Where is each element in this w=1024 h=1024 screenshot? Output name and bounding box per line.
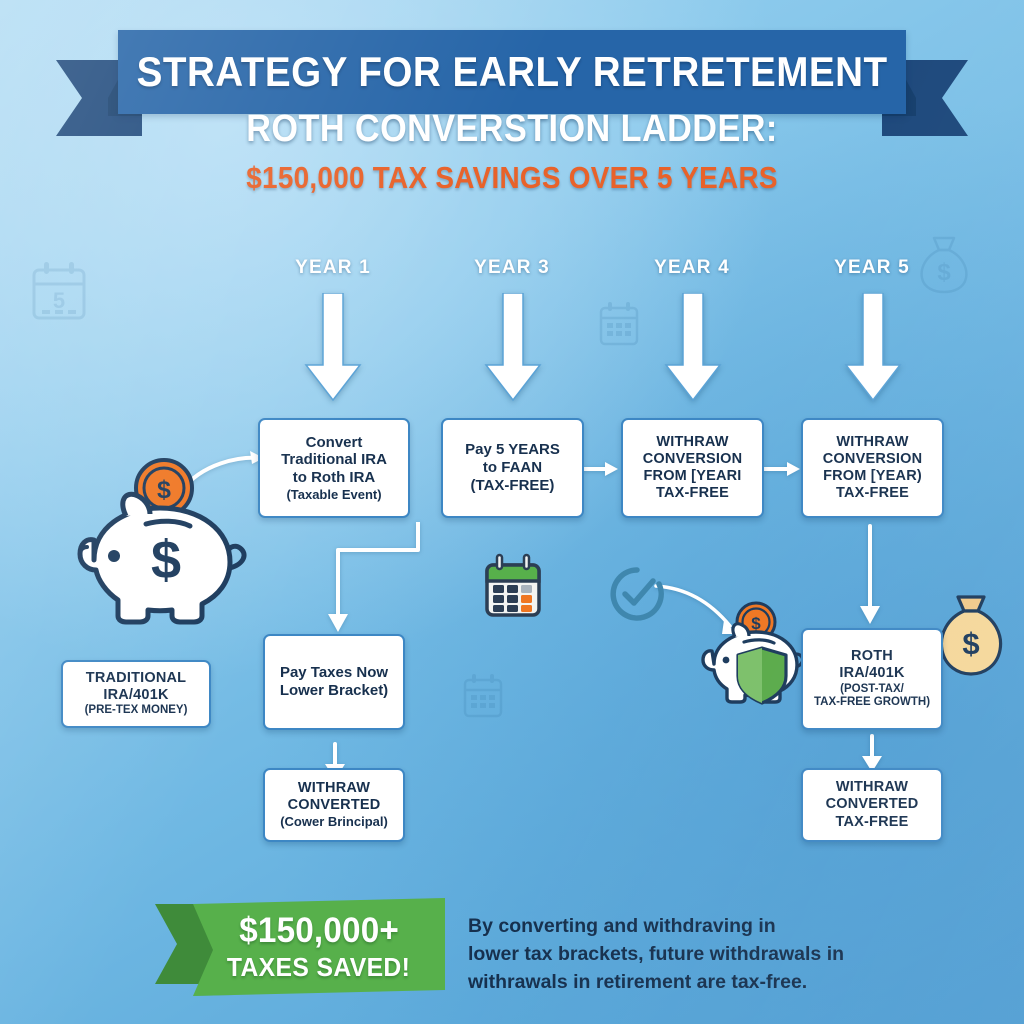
box-line: WITHRAW (836, 434, 908, 451)
piggy-bank-icon: $ $ (52, 450, 272, 635)
timeline-arrow-4 (843, 293, 903, 433)
timeline-arrow-3 (663, 293, 723, 433)
svg-text:5: 5 (53, 288, 65, 313)
calendar-watermark-icon (598, 300, 640, 348)
year-label-3: YEAR 4 (622, 257, 762, 279)
box-line: WITHRAW (836, 779, 908, 796)
banner-title: STRATEGY FOR EARLY RETRETEMENT (137, 48, 888, 96)
calendar-watermark-icon (462, 672, 504, 720)
savings-label: TAXES SAVED! (227, 952, 410, 983)
svg-text:$: $ (962, 626, 979, 661)
box-withdraw-conversion-year5[interactable]: WITHRAW CONVERSION FROM [YEAR) TAX-FREE (801, 418, 944, 518)
box-withdraw-conversion-year4[interactable]: WITHRAW CONVERSION FROM [YEARI TAX-FREE (621, 418, 764, 518)
connector-pay5-to-withdraw4 (578, 452, 624, 486)
box-line: TRADITIONAL (86, 670, 186, 687)
box-pay-taxes-now[interactable]: Pay Taxes Now Lower Bracket) (263, 634, 405, 730)
year-label-4: YEAR 5 (802, 257, 942, 279)
box-line: (Taxable Event) (286, 487, 381, 502)
box-line: CONVERSION (823, 451, 923, 468)
box-withdraw-converted-tax-free[interactable]: WITHRAW CONVERTED TAX-FREE (801, 768, 943, 842)
box-line: Traditional IRA (281, 451, 387, 469)
green-ribbon-body: $150,000+ TAXES SAVED! (193, 898, 445, 996)
box-line: CONVERTED (288, 797, 381, 814)
box-line: to FAAN (483, 459, 542, 477)
footer-description: By converting and withdraving in lower t… (468, 912, 898, 996)
box-line: TAX-FREE (835, 814, 908, 831)
box-line: CONVERSION (643, 451, 743, 468)
timeline-arrow-1 (303, 293, 363, 433)
box-withdraw-converted-principal[interactable]: WITHRAW CONVERTED (Cower Brincipal) (263, 768, 405, 842)
subtitle-savings: $150,000 TAX SAVINGS OVER 5 YEARS (51, 160, 973, 196)
box-line: IRA/401K (103, 687, 168, 704)
check-circle-icon (608, 565, 666, 628)
svg-text:$: $ (151, 530, 181, 590)
calendar-icon (482, 552, 544, 627)
piggy-bank-shield-icon: $ (694, 600, 814, 715)
connector-convert-to-paytaxes (326, 520, 426, 640)
infographic-canvas: 5 (0, 0, 1024, 1024)
box-line: Pay 5 YEARS (465, 441, 560, 459)
footer-line-2: lower tax brackets, future withdrawals i… (468, 940, 898, 968)
box-line: FROM [YEAR) (823, 468, 922, 485)
box-line: Convert (306, 434, 363, 452)
box-convert-to-roth[interactable]: Convert Traditional IRA to Roth IRA (Tax… (258, 418, 410, 518)
connector-withdraw4-to-withdraw5 (760, 452, 806, 486)
calendar-5-watermark-icon: 5 (28, 258, 90, 328)
box-roth-ira[interactable]: ROTH IRA/401K (POST-TAX/ TAX-FREE GROWTH… (801, 628, 943, 730)
box-pay-5-years[interactable]: Pay 5 YEARS to FAAN (TAX-FREE) (441, 418, 584, 518)
box-line: TAX-FREE (656, 485, 729, 502)
box-line: (PRE-TEX MONEY) (85, 704, 188, 718)
box-line: ROTH (851, 648, 893, 665)
box-line: WITHRAW (298, 780, 370, 797)
box-line: WITHRAW (656, 434, 728, 451)
ribbon-body: STRATEGY FOR EARLY RETRETEMENT (118, 30, 906, 114)
connector-withdraw5-to-roth (855, 524, 885, 628)
timeline-arrow-2 (483, 293, 543, 433)
svg-text:$: $ (157, 476, 171, 504)
box-traditional-ira[interactable]: TRADITIONAL IRA/401K (PRE-TEX MONEY) (61, 660, 211, 728)
savings-amount: $150,000+ (239, 911, 399, 951)
year-label-2: YEAR 3 (442, 257, 582, 279)
box-line: to Roth IRA (293, 469, 375, 487)
box-line: TAX-FREE (836, 485, 909, 502)
box-line: TAX-FREE GROWTH) (814, 696, 930, 710)
box-line: Lower Bracket) (280, 682, 388, 700)
box-line: Pay Taxes Now (280, 664, 388, 682)
svg-text:$: $ (751, 614, 761, 633)
box-line: (POST-TAX/ (840, 683, 904, 697)
box-line: (Cower Brincipal) (280, 814, 388, 829)
subtitle-primary: ROTH CONVERSTION LADDER: (51, 108, 973, 151)
box-line: FROM [YEARI (643, 468, 741, 485)
footer-line-1: By converting and withdraving in (468, 912, 898, 940)
box-line: IRA/401K (839, 665, 904, 682)
year-label-1: YEAR 1 (263, 257, 403, 279)
box-line: (TAX-FREE) (471, 477, 555, 495)
footer-line-3: withrawals in retirement are tax-free. (468, 968, 898, 996)
savings-callout-ribbon: $150,000+ TAXES SAVED! (155, 898, 445, 1000)
box-line: CONVERTED (826, 796, 919, 813)
money-bag-icon: $ (934, 592, 1008, 685)
